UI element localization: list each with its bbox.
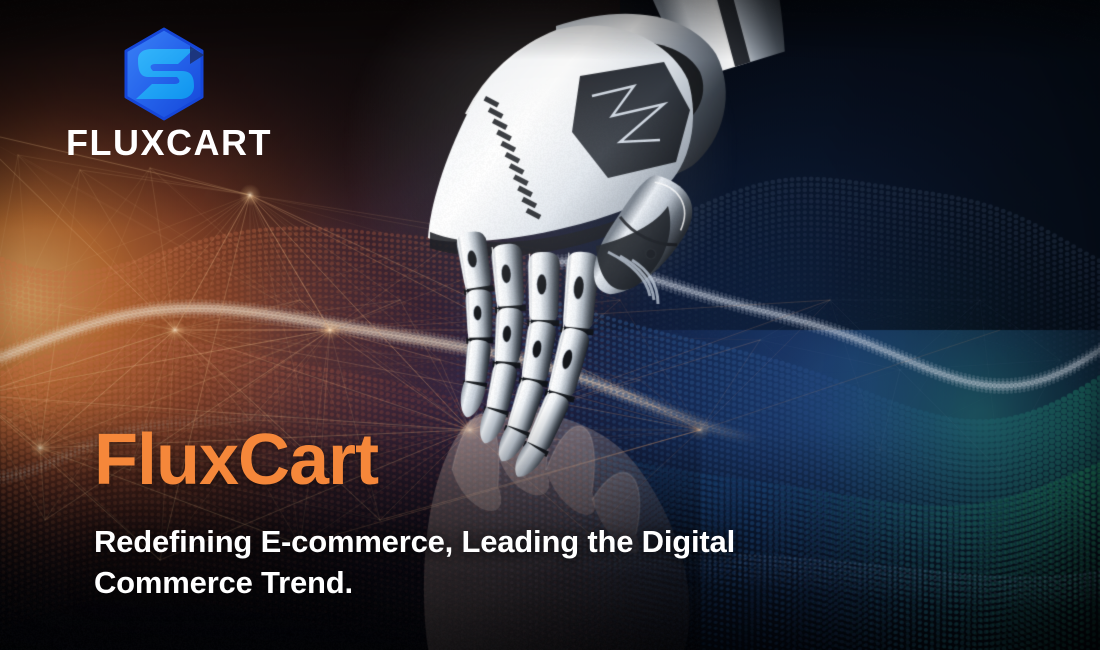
hero-banner: FLUXCART FluxCart Redefining E-commerce,… [0,0,1100,650]
brand-wordmark-text: FLUXCART [66,124,272,162]
brand-logo-lockup[interactable]: FLUXCART [66,26,336,152]
page-subtitle: Redefining E-commerce, Leading the Digit… [94,521,874,603]
page-title: FluxCart [94,424,378,496]
brand-wordmark: FLUXCART [66,124,336,162]
fluxcart-hexagon-logo-icon [116,26,212,122]
tagline-line-2: Commerce Trend. [94,562,874,603]
tagline-line-1: Redefining E-commerce, Leading the Digit… [94,521,874,562]
